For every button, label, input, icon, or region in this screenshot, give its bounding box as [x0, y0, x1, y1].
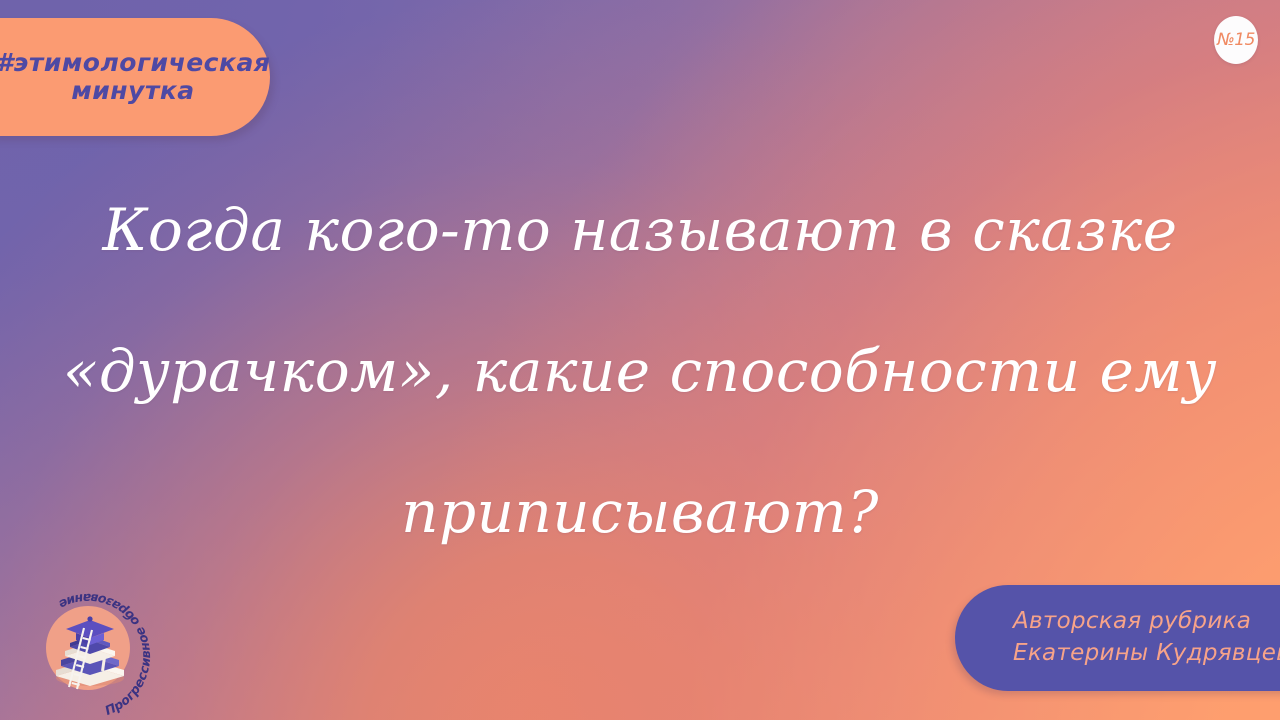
hashtag-line-1: #этимологическая — [0, 49, 270, 77]
slide-number-badge: №15 — [1214, 16, 1258, 64]
logo: Прогрессивное образование — [16, 586, 164, 720]
hashtag-line-2: минутка — [71, 77, 194, 105]
question-line-1: Когда кого-то называют в сказке — [0, 160, 1280, 301]
logo-graduation-cap-books-icon: Прогрессивное образование — [16, 586, 164, 720]
author-badge-line-1: Авторская рубрика — [1013, 606, 1251, 638]
author-badge-line-2: Екатерины Кудрявцевой — [1013, 638, 1280, 670]
question-block: Когда кого-то называют в сказке «дурачко… — [0, 160, 1280, 583]
author-badge: Авторская рубрика Екатерины Кудрявцевой — [955, 585, 1280, 691]
question-line-2: «дурачком», какие способности ему — [0, 301, 1280, 442]
slide-number-label: №15 — [1217, 30, 1255, 50]
hashtag-badge: #этимологическая минутка — [0, 18, 270, 136]
question-line-3: приписывают? — [0, 442, 1280, 583]
slide-canvas: #этимологическая минутка №15 Когда кого-… — [0, 0, 1280, 720]
